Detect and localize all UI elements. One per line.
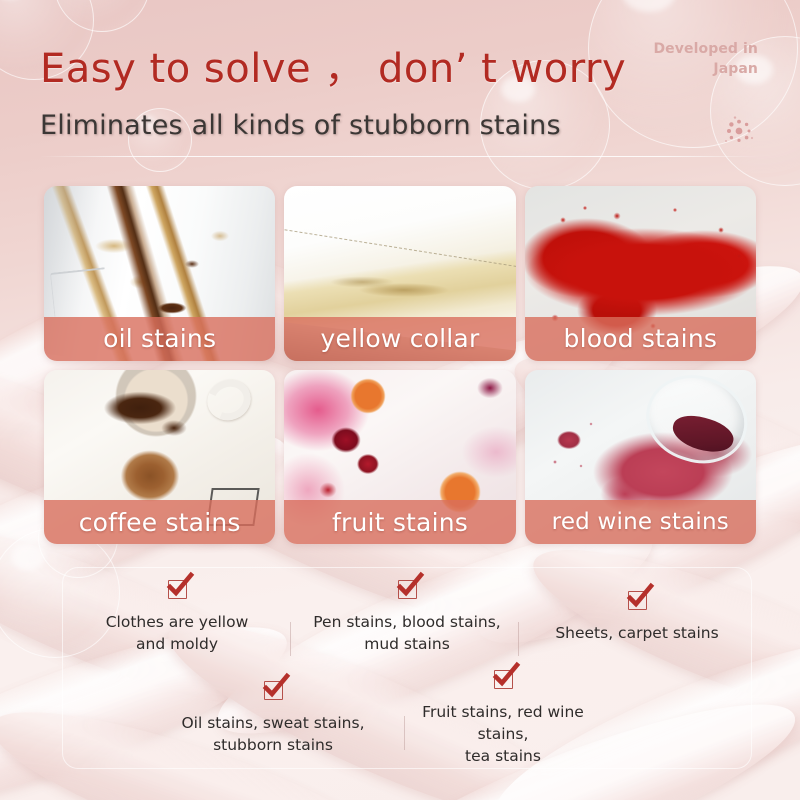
checklist-divider [404, 716, 405, 750]
checklist: Clothes are yellowand moldy Pen stains, … [62, 567, 752, 769]
stain-card-yellow-collar[interactable]: yellow collar [284, 186, 515, 361]
checklist-item-2: Pen stains, blood stains,mud stains [292, 567, 522, 668]
stain-card-fruit-stains[interactable]: fruit stains [284, 370, 515, 545]
badge-line-1: Developed in [618, 40, 758, 60]
checklist-item-1: Clothes are yellowand moldy [62, 567, 292, 668]
stain-card-label: yellow collar [284, 317, 515, 361]
stain-card-red-wine-stains[interactable]: red wine stains [525, 370, 756, 545]
stain-card-grid: oil stains yellow collar blood stains co… [44, 186, 756, 544]
stain-card-oil-stains[interactable]: oil stains [44, 186, 275, 361]
checklist-item-label: Pen stains, blood stains,mud stains [313, 611, 500, 655]
checklist-divider [518, 622, 519, 656]
page-subtitle: Eliminates all kinds of stubborn stains [40, 110, 561, 141]
page-title: Easy to solve ， don’ t worry [40, 36, 626, 94]
header-divider [40, 156, 760, 157]
badge-line-2: Japan [618, 60, 758, 80]
stain-card-coffee-stains[interactable]: coffee stains [44, 370, 275, 545]
checklist-item-label: Clothes are yellowand moldy [106, 611, 249, 655]
checkbox-checked-icon [494, 670, 513, 689]
product-banner: Easy to solve ， don’ t worry Eliminates … [0, 0, 800, 800]
checklist-item-label: Fruit stains, red wine stains,tea stains [403, 701, 603, 767]
checkbox-checked-icon [168, 580, 187, 599]
stain-card-label: blood stains [525, 317, 756, 361]
stain-card-label: oil stains [44, 317, 275, 361]
checklist-item-3: Sheets, carpet stains [522, 567, 752, 668]
stain-card-label: fruit stains [284, 500, 515, 544]
checkbox-checked-icon [264, 681, 283, 700]
stain-card-blood-stains[interactable]: blood stains [525, 186, 756, 361]
checkbox-checked-icon [628, 591, 647, 610]
stain-card-label: red wine stains [525, 500, 756, 544]
developed-in-japan-badge: Developed in Japan [618, 40, 758, 79]
sakura-dots-icon [722, 114, 756, 148]
checklist-divider [290, 622, 291, 656]
stain-card-label: coffee stains [44, 500, 275, 544]
header: Easy to solve ， don’ t worry Eliminates … [0, 0, 800, 172]
checklist-item-label: Sheets, carpet stains [555, 622, 718, 644]
checkbox-checked-icon [398, 580, 417, 599]
checklist-item-label: Oil stains, sweat stains,stubborn stains [181, 712, 364, 756]
checklist-item-4: Oil stains, sweat stains,stubborn stains [158, 668, 388, 769]
checklist-item-5: Fruit stains, red wine stains,tea stains [388, 668, 618, 769]
